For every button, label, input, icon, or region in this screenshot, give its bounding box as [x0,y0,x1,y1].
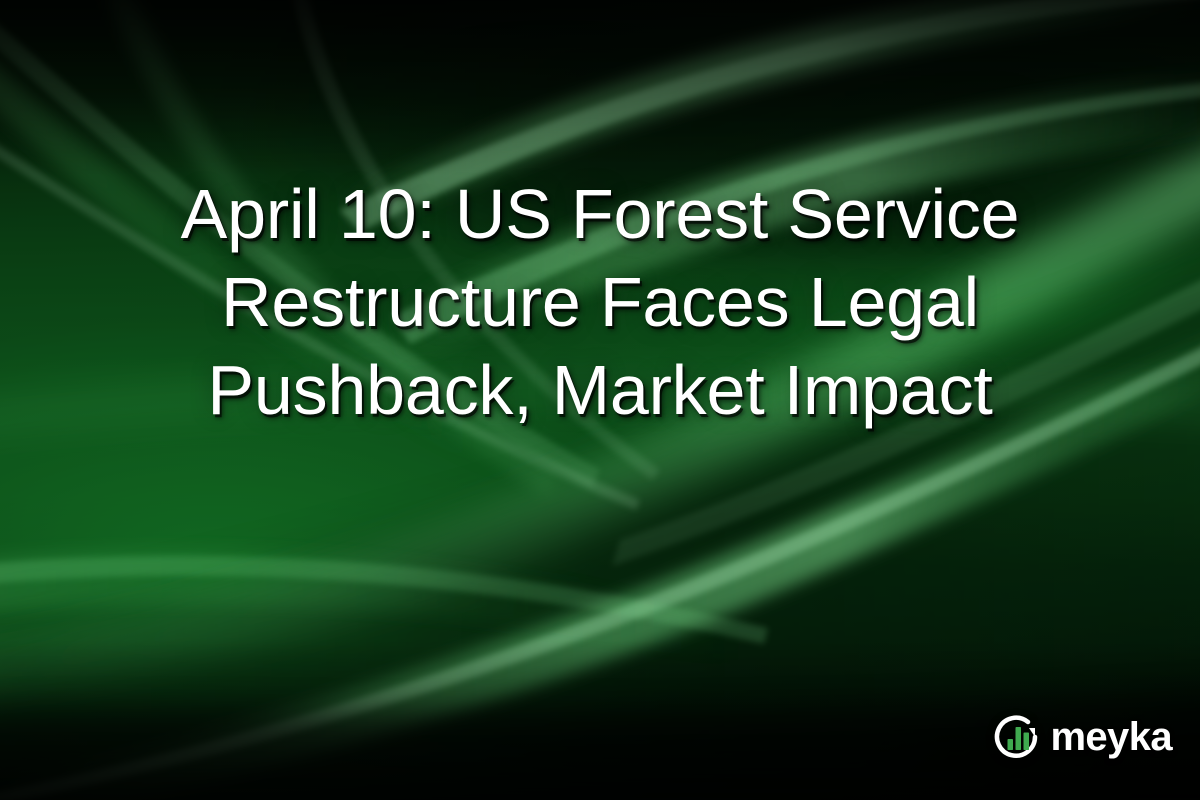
brand-wordmark: meyka [1050,717,1172,757]
meyka-ring-bar-chart-icon [991,712,1041,762]
page-title: April 10: US Forest Service Restructure … [95,170,1105,434]
headline-block: April 10: US Forest Service Restructure … [0,170,1200,434]
news-banner-card: April 10: US Forest Service Restructure … [0,0,1200,800]
brand-logo[interactable]: meyka [991,712,1172,762]
